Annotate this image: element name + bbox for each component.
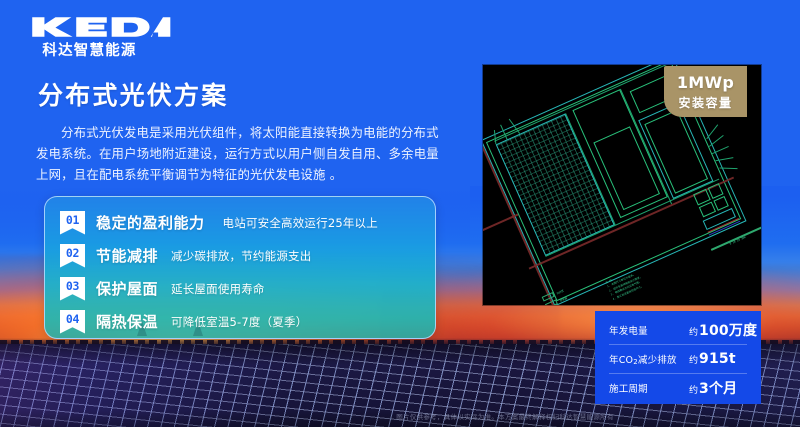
cad-legend-swatch [545, 299, 558, 305]
stat-row-co2-reduction: 年CO2减少排放 约915t [595, 344, 761, 373]
slide-root: 科达智慧能源 分布式光伏方案 分布式光伏发电是采用光伏组件，将太阳能直接转换为电… [0, 0, 800, 427]
stat-label-sub: 2 [633, 358, 638, 366]
stat-value-group: 约100万度 [689, 320, 757, 340]
ribbon-badge-icon: 04 [60, 310, 85, 334]
feature-item-03[interactable]: 03 保护屋面 延长屋面使用寿命 [45, 272, 436, 305]
keda-wordmark-icon [31, 16, 172, 38]
stat-number: 100万度 [699, 323, 757, 339]
feature-number: 02 [60, 246, 85, 260]
feature-title: 节能减排 [96, 245, 158, 266]
capacity-badge: 1MWp 安装容量 [664, 66, 747, 117]
stats-panel: 年发电量 约100万度 年CO2减少排放 约915t 施工周期 约3个月 [595, 311, 761, 404]
stat-value-group: 约915t [689, 350, 736, 368]
stat-label-text: 施工周期 [609, 384, 648, 395]
feature-desc: 电站可安全高效运行25年以上 [223, 215, 378, 231]
feature-item-04[interactable]: 04 隔热保温 可降低室温5-7度（夏季） [45, 305, 436, 338]
stat-row-construction-period: 施工周期 约3个月 [595, 373, 761, 402]
ribbon-badge-icon: 03 [60, 277, 85, 301]
cad-legend-label: 逆变器 [559, 295, 568, 302]
stat-label-text: 年CO [609, 355, 633, 366]
footer-disclaimer: 图片仅供参考，具体以实际为准。本方案最终解释权归科达智慧能源所有 [0, 411, 800, 421]
capacity-value: 1MWp [677, 73, 734, 92]
ribbon-badge-icon: 02 [60, 244, 85, 268]
stat-label: 施工周期 [609, 381, 689, 395]
stat-value-group: 约3个月 [689, 378, 737, 398]
stat-label-text-post: 减少排放 [638, 355, 677, 366]
feature-desc: 减少碳排放，节约能源支出 [171, 248, 311, 264]
cad-legend-label: 电缆 [562, 304, 568, 305]
feature-title: 保护屋面 [96, 278, 158, 299]
stat-approx: 约 [689, 328, 698, 338]
feature-panel: 01 稳定的盈利能力 电站可安全高效运行25年以上 02 节能减排 减少碳排放，… [44, 196, 436, 339]
stat-label: 年发电量 [609, 323, 689, 337]
feature-item-02[interactable]: 02 节能减排 减少碳排放，节约能源支出 [45, 239, 436, 272]
feature-number: 04 [60, 312, 85, 326]
stat-number: 915t [699, 351, 736, 367]
ribbon-badge-icon: 01 [60, 211, 85, 235]
brand-logo: 科达智慧能源 [31, 16, 171, 60]
brand-name-cn: 科达智慧能源 [31, 39, 148, 60]
intro-paragraph: 分布式光伏发电是采用光伏组件，将太阳能直接转换为电能的分布式发电系统。在用户场地… [36, 122, 444, 185]
stat-approx: 约 [689, 356, 698, 366]
feature-item-01[interactable]: 01 稳定的盈利能力 电站可安全高效运行25年以上 [45, 206, 436, 239]
feature-number: 01 [60, 213, 85, 227]
feature-desc: 可降低室温5-7度（夏季） [171, 314, 307, 330]
cad-legend-label: 光伏区 [556, 288, 565, 295]
stat-row-annual-generation: 年发电量 约100万度 [595, 315, 761, 344]
stat-number: 3个月 [699, 381, 737, 397]
feature-title: 稳定的盈利能力 [96, 212, 205, 233]
page-title: 分布式光伏方案 [38, 76, 228, 112]
cad-road-spur [483, 213, 518, 234]
stat-label: 年CO2减少排放 [609, 352, 689, 366]
cad-leader [706, 124, 718, 139]
feature-desc: 延长屋面使用寿命 [171, 281, 265, 297]
stat-approx: 约 [689, 386, 698, 396]
feature-list: 01 稳定的盈利能力 电站可安全高效运行25年以上 02 节能减排 减少碳排放，… [45, 197, 436, 339]
feature-number: 03 [60, 279, 85, 293]
stat-label-text: 年发电量 [609, 326, 648, 337]
feature-title: 隔热保温 [96, 311, 158, 332]
capacity-label: 安装容量 [678, 94, 732, 111]
